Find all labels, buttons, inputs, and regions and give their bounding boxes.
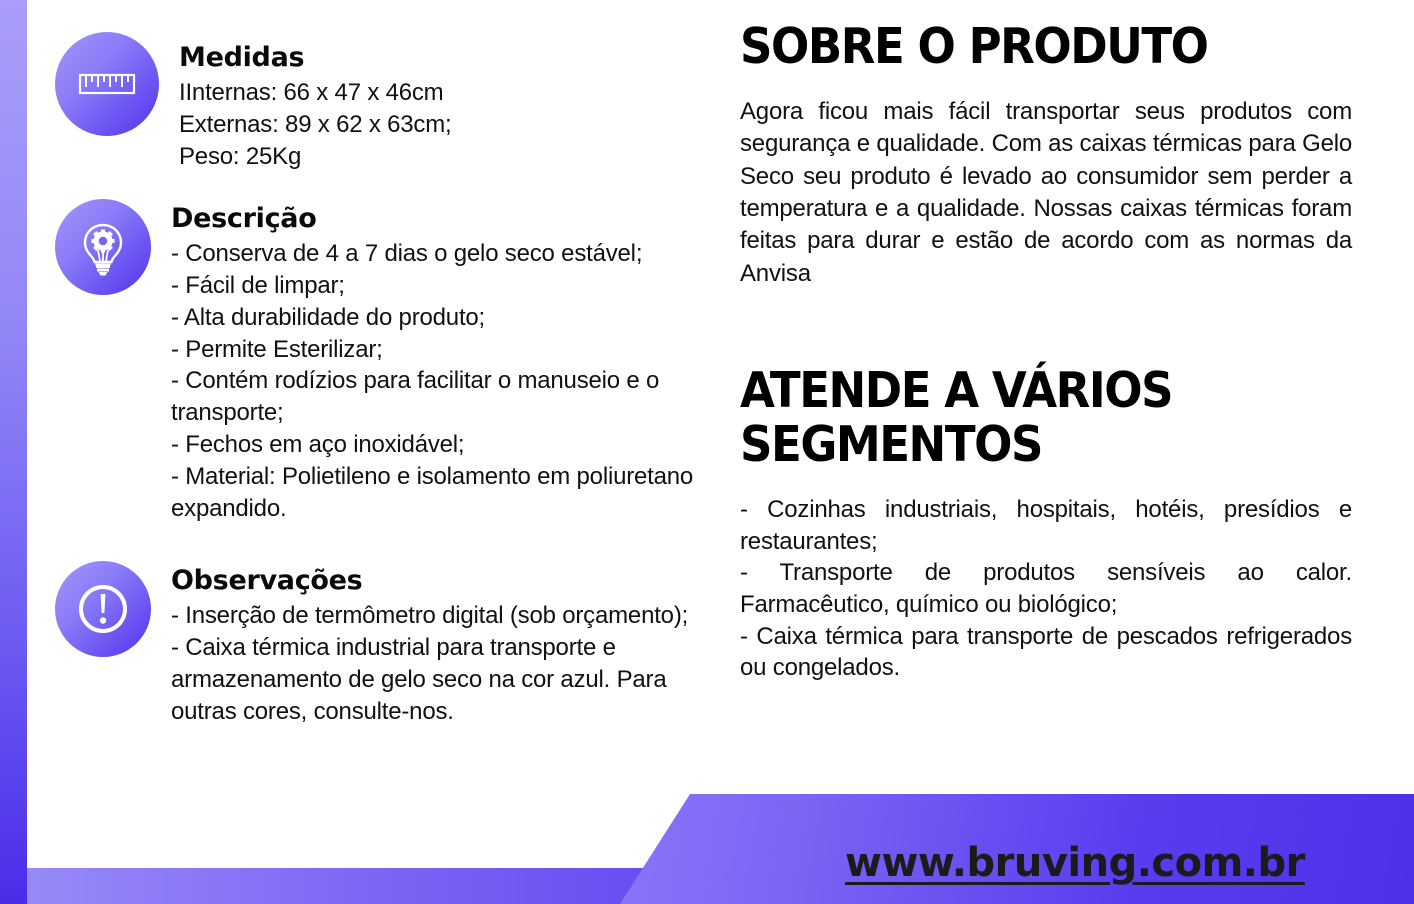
feature-descricao-item-6: - Fechos em aço inoxidável; bbox=[171, 429, 695, 461]
feature-observacoes: Observações - Inserção de termômetro dig… bbox=[55, 561, 695, 728]
feature-medidas-line-2: Externas: 89 x 62 x 63cm; bbox=[179, 109, 695, 141]
feature-observacoes-item-2: - Caixa térmica industrial para transpor… bbox=[171, 632, 695, 728]
left-accent-stripe bbox=[0, 0, 27, 904]
feature-medidas-title: Medidas bbox=[179, 42, 695, 73]
feature-medidas-line-1: IInternas: 66 x 47 x 46cm bbox=[179, 77, 695, 109]
lightbulb-gear-icon bbox=[55, 199, 151, 295]
product-info-sheet: Medidas IInternas: 66 x 47 x 46cm Extern… bbox=[0, 0, 1414, 904]
feature-observacoes-item-1: - Inserção de termômetro digital (sob or… bbox=[171, 600, 695, 632]
feature-medidas-body: Medidas IInternas: 66 x 47 x 46cm Extern… bbox=[179, 32, 695, 173]
segments-list: - Cozinhas industriais, hospitais, hotéi… bbox=[740, 494, 1352, 684]
segments-item-2: - Transporte de produtos sensíveis ao ca… bbox=[740, 557, 1352, 620]
feature-descricao-item-5: - Contém rodízios para facilitar o manus… bbox=[171, 365, 695, 429]
feature-descricao-item-2: - Fácil de limpar; bbox=[171, 270, 695, 302]
segments-item-1: - Cozinhas industriais, hospitais, hotéi… bbox=[740, 494, 1352, 557]
right-column: SOBRE O PRODUTO Agora ficou mais fácil t… bbox=[740, 20, 1352, 684]
footer-banner: www.bruving.com.br bbox=[0, 784, 1414, 904]
left-column: Medidas IInternas: 66 x 47 x 46cm Extern… bbox=[55, 22, 695, 752]
feature-medidas: Medidas IInternas: 66 x 47 x 46cm Extern… bbox=[55, 32, 695, 173]
feature-descricao-title: Descrição bbox=[171, 203, 695, 234]
segments-item-3: - Caixa térmica para transporte de pesca… bbox=[740, 621, 1352, 684]
feature-descricao-item-1: - Conserva de 4 a 7 dias o gelo seco est… bbox=[171, 238, 695, 270]
feature-observacoes-title: Observações bbox=[171, 565, 695, 596]
feature-medidas-line-3: Peso: 25Kg bbox=[179, 141, 695, 173]
feature-descricao: Descrição - Conserva de 4 a 7 dias o gel… bbox=[55, 199, 695, 525]
ruler-icon bbox=[55, 32, 159, 136]
feature-descricao-item-3: - Alta durabilidade do produto; bbox=[171, 302, 695, 334]
exclamation-circle-icon bbox=[55, 561, 151, 657]
about-heading: SOBRE O PRODUTO bbox=[740, 20, 1303, 74]
feature-descricao-item-4: - Permite Esterilizar; bbox=[171, 334, 695, 366]
feature-descricao-body: Descrição - Conserva de 4 a 7 dias o gel… bbox=[171, 199, 695, 525]
feature-descricao-item-7: - Material: Polietileno e isolamento em … bbox=[171, 461, 695, 525]
website-url-link[interactable]: www.bruving.com.br bbox=[845, 840, 1305, 886]
segments-heading: ATENDE A VÁRIOS SEGMENTOS bbox=[740, 364, 1303, 472]
feature-observacoes-body: Observações - Inserção de termômetro dig… bbox=[171, 561, 695, 728]
about-paragraph: Agora ficou mais fácil transportar seus … bbox=[740, 96, 1352, 290]
